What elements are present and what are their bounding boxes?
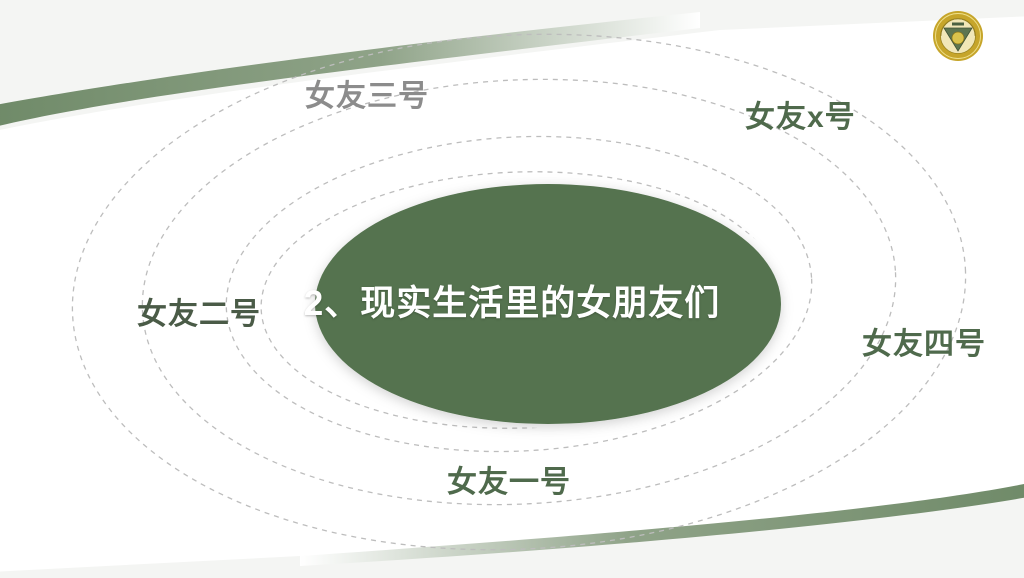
center-title: 2、现实生活里的女朋友们 bbox=[232, 285, 792, 324]
label-girlfriend-four: 女友四号 bbox=[862, 330, 986, 360]
slide-canvas: 2、现实生活里的女朋友们 女友三号 女友x号 女友二号 女友四号 女友一号 bbox=[0, 0, 1024, 578]
logo-badge bbox=[932, 10, 984, 62]
label-girlfriend-one: 女友一号 bbox=[447, 468, 571, 498]
label-girlfriend-two: 女友二号 bbox=[137, 300, 261, 330]
label-girlfriend-three: 女友三号 bbox=[305, 82, 429, 112]
circular-emblem-logo-icon bbox=[932, 10, 984, 62]
label-girlfriend-x: 女友x号 bbox=[745, 103, 856, 133]
